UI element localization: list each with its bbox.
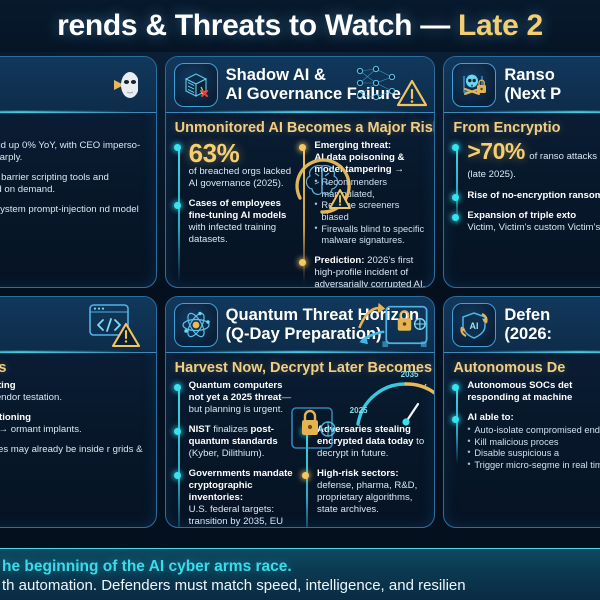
page-title-accent: Late 2 bbox=[458, 9, 543, 42]
sub-bullet-list: Recommenders manipulated, Resume screene… bbox=[314, 177, 425, 247]
list-item: Emerging threat: AI data poisoning & mod… bbox=[314, 140, 425, 247]
list-item: Governments mandate cryptographic invent… bbox=[189, 468, 297, 528]
infographic-footer: he beginning of the AI cyber arms race. … bbox=[0, 548, 600, 600]
warning-triangle-icon bbox=[113, 324, 139, 346]
panel-body: 63% of breached orgs lacked AI governanc… bbox=[166, 140, 435, 288]
gauge-label-top: 2035 bbox=[401, 370, 419, 379]
bullet-rest: AI data poisoning & model tampering → bbox=[314, 152, 404, 175]
bullet-column: overnments mandatingBOMs, continuous ven… bbox=[0, 380, 147, 476]
list-item: 63% of breached orgs lacked AI governanc… bbox=[189, 140, 295, 190]
bullet-text: Autonomous SOCs detresponding at machine bbox=[467, 380, 600, 404]
bullet-strong: ation-state pre-positioning bbox=[0, 412, 31, 423]
bullet-text: ation-state pre-positioning critical inf… bbox=[0, 412, 147, 436]
bullet-strong: AI able to: bbox=[467, 412, 513, 423]
bullet-text: High-risk sectors: defense, pharma, R&D,… bbox=[317, 468, 425, 516]
page-title: rends & Threats to Watch — Late 2 bbox=[57, 9, 543, 43]
sub-bullet: Kill malicious proces bbox=[467, 437, 600, 449]
bullet-strong: Expansion of triple exto bbox=[467, 210, 576, 221]
bullet-text: eepfake-enabled fraud up 0% YoY, with CE… bbox=[0, 140, 147, 164]
panel-subtitle: merge bbox=[0, 113, 156, 140]
code-window-warning-icon bbox=[86, 300, 142, 350]
panel-title: Defen (2026: bbox=[504, 306, 552, 343]
list-item: ation-state pre-positioning critical inf… bbox=[0, 412, 147, 436]
list-item: Cases of employees fine-tuning AI models… bbox=[189, 198, 295, 246]
server-rack-warning-icon bbox=[174, 63, 218, 107]
bullet-text: Rise of no-encryption ransomware → pure … bbox=[467, 190, 600, 202]
panel-body: eepfake-enabled fraud up 0% YoY, with CE… bbox=[0, 140, 156, 244]
list-item: I lowers attacker skill barrier scriptin… bbox=[0, 172, 147, 196]
panel-subtitle: Autonomous De bbox=[444, 353, 600, 380]
sub-bullet: Recommenders manipulated, bbox=[314, 177, 425, 200]
bullet-strong: Adversaries stealing encrypted data toda… bbox=[317, 424, 414, 447]
panel-shadow-ai[interactable]: Shadow AI & AI Governance Failure bbox=[165, 56, 436, 288]
bullet-strong: Governments mandate cryptographic invent… bbox=[189, 468, 293, 503]
bullet-strong: Emerging threat: bbox=[314, 140, 391, 151]
bullet-rail bbox=[306, 430, 308, 528]
bullet-text: of breached orgs lacked AI governance (2… bbox=[189, 166, 295, 190]
panel-ransomware[interactable]: Ranso (Next P From Encryptio >70% of ran… bbox=[443, 56, 600, 288]
bullet-rail bbox=[456, 386, 458, 464]
list-item: Expansion of triple extoVictim, Victim’s… bbox=[467, 210, 600, 234]
panel-body: >70% of ranso attacks now include data t… bbox=[444, 140, 600, 250]
bullet-column-right: Adversaries stealing encrypted data toda… bbox=[303, 380, 425, 528]
bullet-rest: with infected training datasets. bbox=[189, 222, 276, 245]
bullet-rest: (Kyber, Dilithium). bbox=[189, 448, 265, 459]
bullet-text: Prediction: 2026’s first high-profile in… bbox=[314, 255, 425, 288]
skull-lock-icon bbox=[452, 63, 496, 107]
bullet-rail bbox=[178, 146, 180, 283]
bullet-column-left: 63% of breached orgs lacked AI governanc… bbox=[175, 140, 295, 288]
bullet-column: eepfake-enabled fraud up 0% YoY, with CE… bbox=[0, 140, 147, 236]
panel-subtitle: Harvest Now, Decrypt Later Becomes Strat… bbox=[166, 353, 435, 380]
stat-value: >70% bbox=[467, 138, 524, 164]
list-item: ew attack surface: I system prompt-injec… bbox=[0, 204, 147, 228]
panel-body: overnments mandatingBOMs, continuous ven… bbox=[0, 380, 156, 484]
bullet-text: NIST finalizes post-quantum standards (K… bbox=[189, 424, 297, 460]
neural-network-icon bbox=[350, 61, 430, 111]
panel-body: Autonomous SOCs detresponding at machine… bbox=[444, 380, 600, 488]
page-title-main: rends & Threats to Watch bbox=[57, 9, 412, 42]
list-item: High-risk sectors: defense, pharma, R&D,… bbox=[317, 468, 425, 516]
bullet-text: Quantum computers not yet a 2025 threat—… bbox=[189, 380, 297, 416]
bullet-strong: Autonomous SOCs det bbox=[467, 380, 572, 391]
panel-subtitle: From Encryptio bbox=[444, 113, 600, 140]
panel-header: Ranso (Next P bbox=[444, 57, 600, 113]
panel-row-bottom: cks e Dependencies bbox=[0, 296, 600, 528]
bullet-strong: Quantum computers not yet a 2025 threat bbox=[189, 380, 283, 403]
list-item: AI able to: Auto-isolate compromised end… bbox=[467, 412, 600, 472]
bullet-strong: High-risk sectors: bbox=[317, 468, 399, 479]
bullet-column-right: Emerging threat: AI data poisoning & mod… bbox=[300, 140, 425, 288]
panel-title-line1: Ranso bbox=[504, 66, 561, 84]
panel-header: Quantum Threat Horizon (Q-Day Preparatio… bbox=[166, 297, 435, 353]
list-item: arnings: foreign saries may already be i… bbox=[0, 444, 147, 468]
panel-subtitle: e Dependencies bbox=[0, 353, 156, 380]
bullet-strong: Cases of employees fine-tuning AI models bbox=[189, 198, 287, 221]
panel-body: Quantum computers not yet a 2025 threat—… bbox=[166, 380, 435, 528]
panel-row-top: <html> printing table: <title>"dmEMeen"<… bbox=[0, 56, 600, 288]
page-title-dash: — bbox=[420, 9, 450, 42]
bullet-mid: finalizes bbox=[211, 424, 251, 435]
bullet-text: Adversaries stealing encrypted data toda… bbox=[317, 424, 425, 460]
warning-triangle-icon bbox=[398, 81, 426, 105]
sub-bullet: Resume screeners biased bbox=[314, 200, 425, 223]
vault-lock-icon bbox=[352, 299, 432, 349]
panel-title-line2: (2026: bbox=[504, 325, 552, 343]
bullet-rest: defense, pharma, R&D, proprietary algori… bbox=[317, 480, 417, 515]
panel-title-line1: Defen bbox=[504, 306, 552, 324]
bullet-text: Emerging threat: AI data poisoning & mod… bbox=[314, 140, 425, 176]
sub-bullet-list: Auto-isolate compromised endpo Kill mali… bbox=[467, 425, 600, 472]
sub-bullet: Trigger micro-segme in real time. bbox=[467, 460, 600, 472]
bullet-column-left: Quantum computers not yet a 2025 threat—… bbox=[175, 380, 297, 528]
bullet-rest: Victim, Victim’s custom Victim’s partner… bbox=[467, 222, 600, 233]
bullet-text: arnings: foreign saries may already be i… bbox=[0, 444, 147, 468]
panel-title: Ranso (Next P bbox=[504, 66, 561, 103]
panel-defensive-ai[interactable]: AI Defen (2026: Autonomous De bbox=[443, 296, 600, 528]
bullet-text: I lowers attacker skill barrier scriptin… bbox=[0, 172, 147, 196]
bullet-column: Autonomous SOCs detresponding at machine… bbox=[453, 380, 600, 480]
bullet-rest: responding at machine bbox=[467, 392, 572, 403]
bullet-rest: BOMs, continuous vendor testation. bbox=[0, 392, 62, 403]
footer-subtext: th automation. Defenders must match spee… bbox=[2, 576, 600, 596]
svg-text:AI: AI bbox=[470, 321, 479, 331]
gauge-label-left: 2025 bbox=[350, 406, 368, 415]
bullet-text: Expansion of triple extoVictim, Victim’s… bbox=[467, 210, 600, 234]
panel-header: cks bbox=[0, 297, 156, 353]
bullet-text: Cases of employees fine-tuning AI models… bbox=[189, 198, 295, 246]
list-item: Autonomous SOCs detresponding at machine bbox=[467, 380, 600, 404]
list-item: NIST finalizes post-quantum standards (K… bbox=[189, 424, 297, 460]
bullet-text: Governments mandate cryptographic invent… bbox=[189, 468, 297, 528]
bullet-text: >70% of ranso attacks now include data t… bbox=[467, 140, 600, 182]
hacker-mask-icon bbox=[94, 61, 138, 109]
bullet-strong: overnments mandating bbox=[0, 380, 16, 391]
arrows-icon bbox=[360, 303, 386, 344]
panel-header: <html> printing table: <title>"dmEMeen"<… bbox=[0, 57, 156, 113]
bullet-strong: NIST bbox=[189, 424, 211, 435]
sub-bullet: Disable suspicious a bbox=[467, 448, 600, 460]
bullet-rest: U.S. federal targets: transition by 2035… bbox=[189, 504, 283, 528]
panel-header: AI Defen (2026: bbox=[444, 297, 600, 353]
bullet-strong: Rise of no-encryption ransomware bbox=[467, 190, 600, 201]
sub-bullet: Auto-isolate compromised endpo bbox=[467, 425, 600, 437]
sub-bullet: Firewalls blind to specific malware sign… bbox=[314, 224, 425, 247]
bullet-strong: Prediction: bbox=[314, 255, 364, 266]
list-item: Quantum computers not yet a 2025 threat—… bbox=[189, 380, 297, 416]
stat-value: 63% bbox=[189, 140, 295, 166]
bullet-rest: foreign saries may already be inside r g… bbox=[0, 444, 143, 467]
bullet-text: overnments mandatingBOMs, continuous ven… bbox=[0, 380, 147, 404]
panel-header: Shadow AI & AI Governance Failure bbox=[166, 57, 435, 113]
panel-title-line2: (Next P bbox=[504, 85, 561, 103]
ai-shield-icon: AI bbox=[452, 303, 496, 347]
bullet-text: ew attack surface: I system prompt-injec… bbox=[0, 204, 147, 228]
panel-quantum-threat[interactable]: Quantum Threat Horizon (Q-Day Preparatio… bbox=[165, 296, 436, 528]
panel-subtitle: Unmonitored AI Becomes a Major Risk Vect… bbox=[166, 113, 435, 140]
list-item: Prediction: 2026’s first high-profile in… bbox=[314, 255, 425, 288]
atom-icon bbox=[174, 303, 218, 347]
list-item: Rise of no-encryption ransomware → pure … bbox=[467, 190, 600, 202]
panel-supply-chain-attacks[interactable]: cks e Dependencies bbox=[0, 296, 157, 528]
list-item: eepfake-enabled fraud up 0% YoY, with CE… bbox=[0, 140, 147, 164]
list-item: Adversaries stealing encrypted data toda… bbox=[317, 424, 425, 460]
list-item: >70% of ranso attacks now include data t… bbox=[467, 140, 600, 182]
infographic-canvas: rends & Threats to Watch — Late 2 <html>… bbox=[0, 0, 600, 600]
bullet-column: >70% of ranso attacks now include data t… bbox=[453, 140, 600, 242]
panel-ai-powered-attacks[interactable]: <html> printing table: <title>"dmEMeen"<… bbox=[0, 56, 157, 288]
bullet-rest: critical infrastructure → ormant implant… bbox=[0, 424, 82, 435]
footer-headline: he beginning of the AI cyber arms race. bbox=[2, 557, 600, 576]
bullet-text: AI able to: bbox=[467, 412, 600, 424]
list-item: overnments mandatingBOMs, continuous ven… bbox=[0, 380, 147, 404]
bullet-rail bbox=[178, 386, 180, 528]
infographic-header: rends & Threats to Watch — Late 2 bbox=[0, 0, 600, 52]
